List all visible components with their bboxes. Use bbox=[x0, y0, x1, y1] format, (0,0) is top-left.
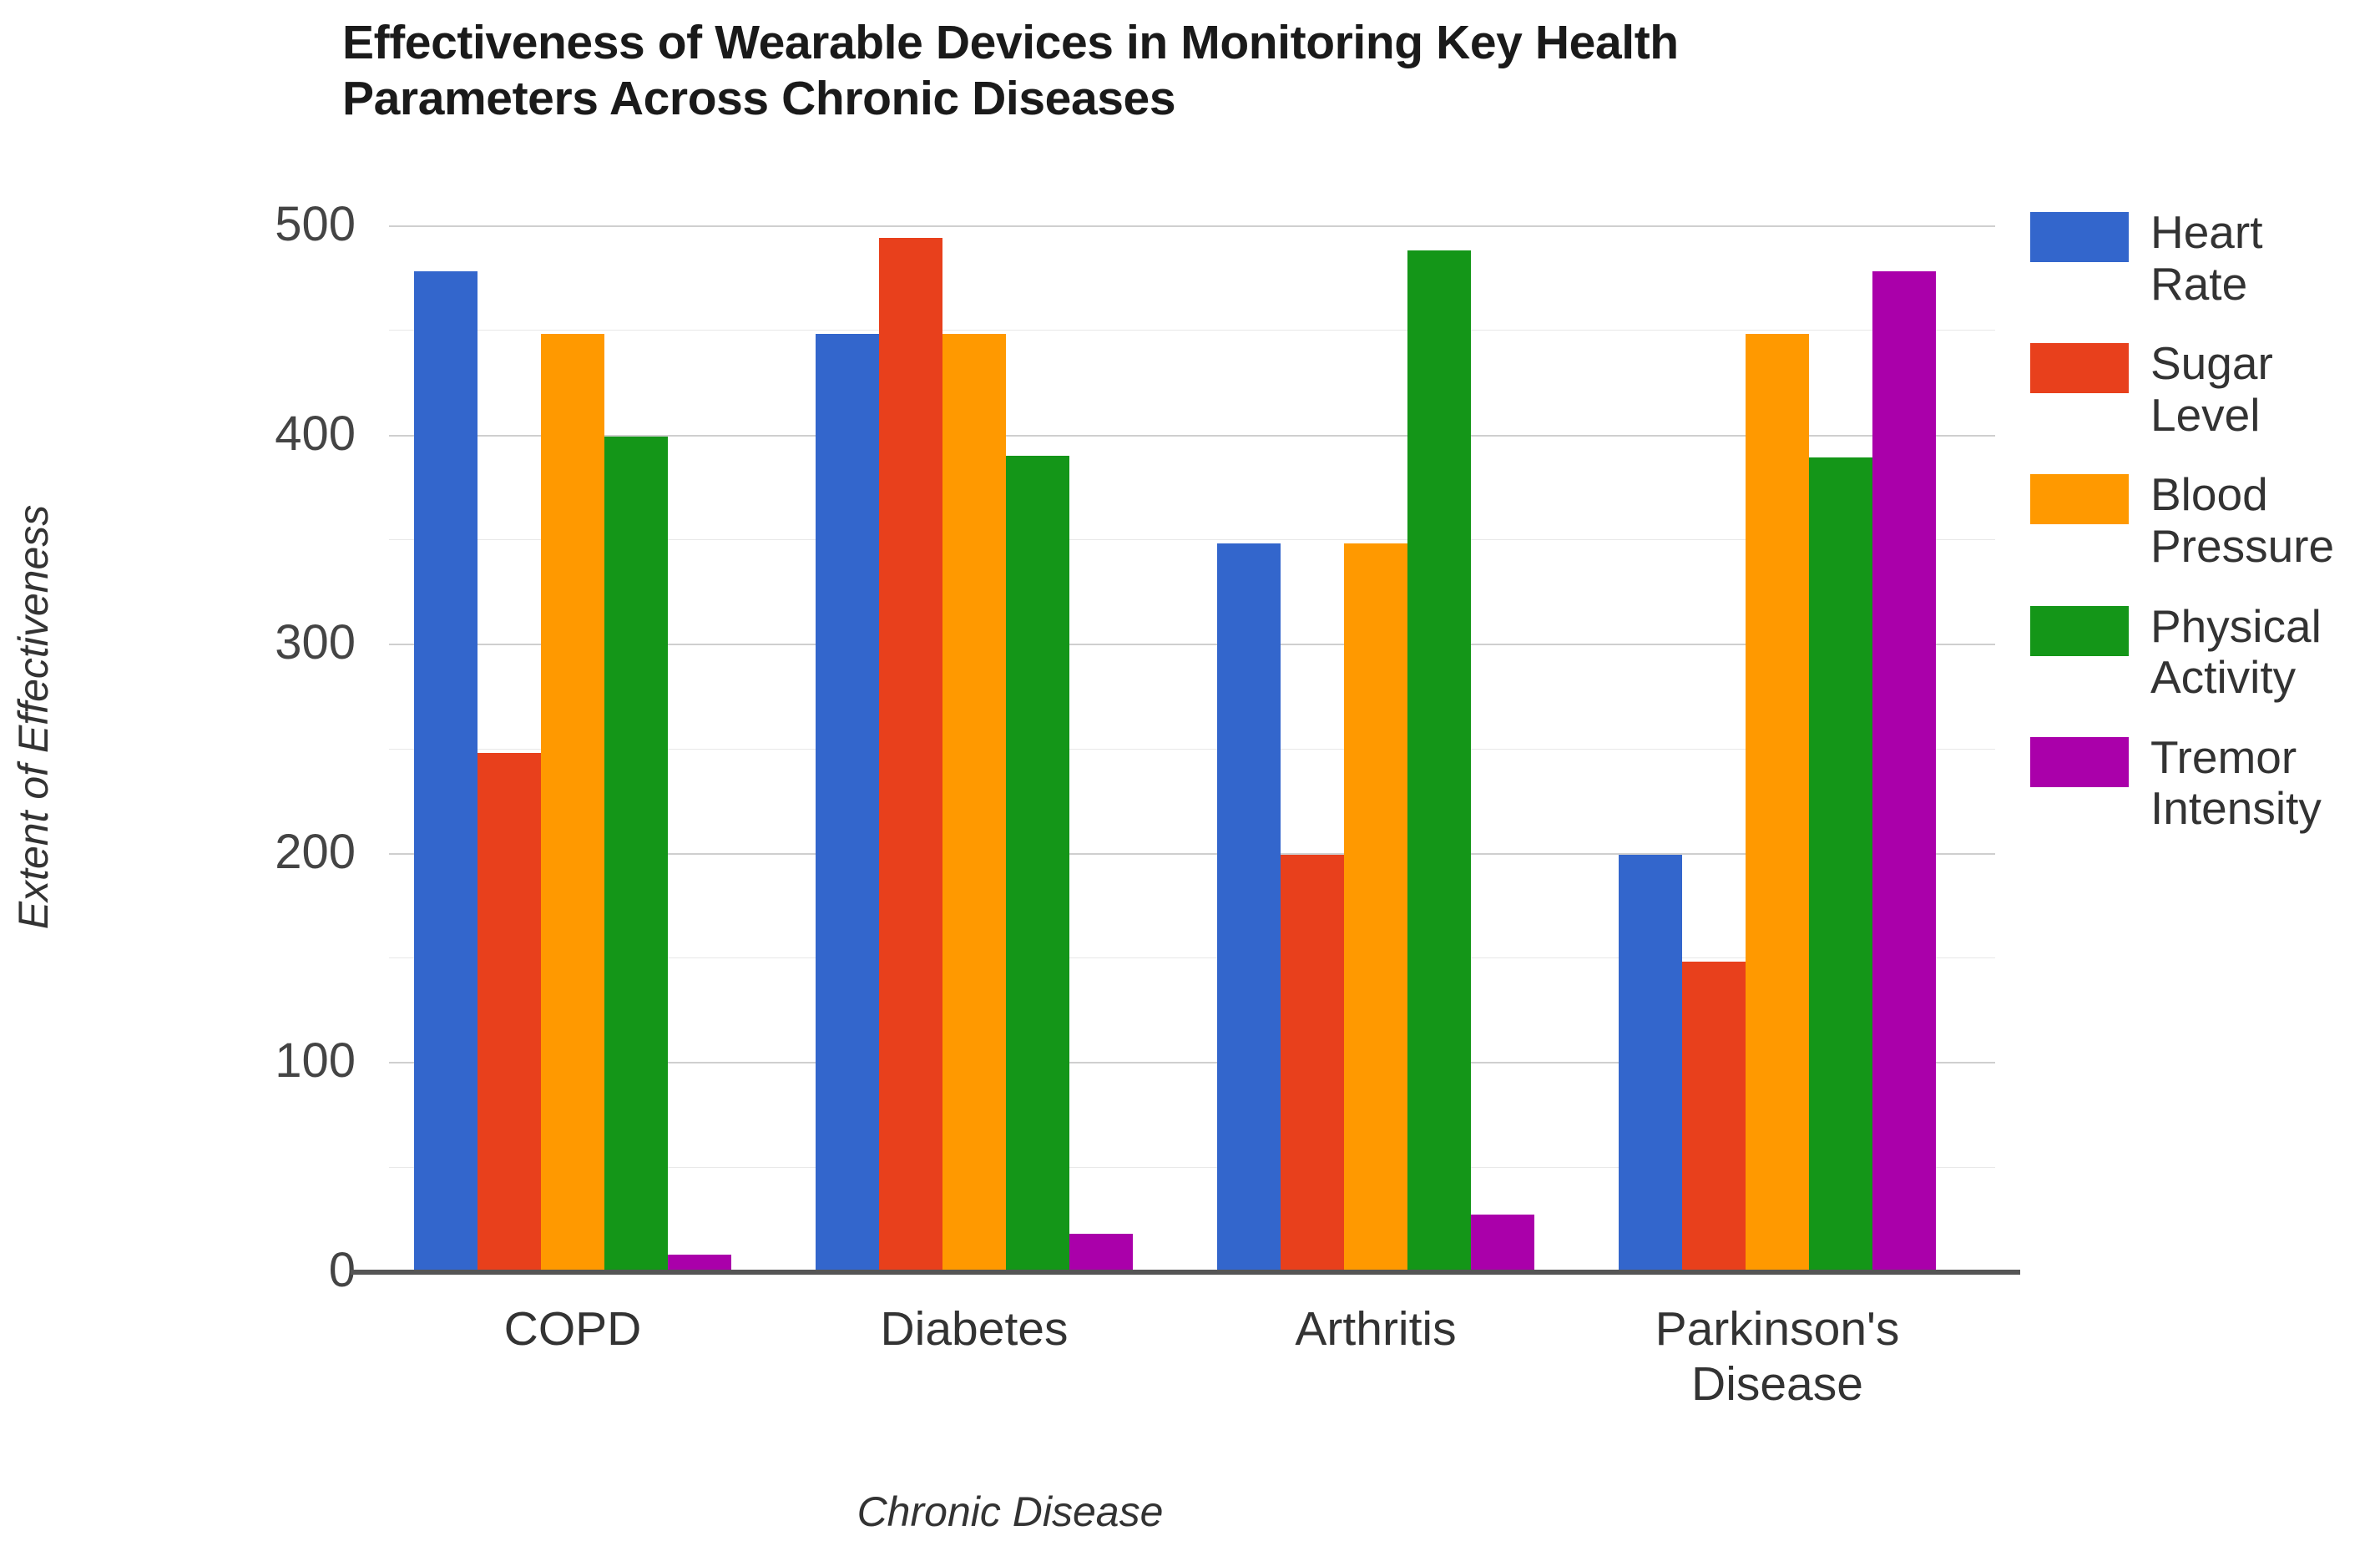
legend-label: Heart Rate bbox=[2150, 207, 2263, 310]
legend-label: Sugar Level bbox=[2150, 338, 2273, 441]
y-tick-label: 400 bbox=[139, 410, 356, 458]
bar-group bbox=[1217, 225, 1534, 1271]
legend-swatch-icon bbox=[2030, 343, 2129, 393]
bar[interactable] bbox=[478, 753, 541, 1271]
legend-item[interactable]: Physical Activity bbox=[2030, 601, 2377, 704]
x-axis-line bbox=[351, 1270, 2020, 1275]
bar[interactable] bbox=[1006, 456, 1069, 1271]
legend-swatch-icon bbox=[2030, 474, 2129, 524]
bar[interactable] bbox=[1682, 962, 1746, 1271]
bar[interactable] bbox=[816, 334, 879, 1271]
legend-item[interactable]: Tremor Intensity bbox=[2030, 732, 2377, 835]
legend-swatch-icon bbox=[2030, 606, 2129, 656]
y-tick-label: 0 bbox=[139, 1246, 356, 1295]
bar[interactable] bbox=[1471, 1215, 1534, 1271]
bar[interactable] bbox=[1344, 543, 1407, 1271]
legend-label: Blood Pressure bbox=[2150, 469, 2334, 572]
bar[interactable] bbox=[604, 437, 668, 1271]
bar-group bbox=[414, 225, 731, 1271]
legend-swatch-icon bbox=[2030, 212, 2129, 262]
chart-legend: Heart RateSugar LevelBlood PressurePhysi… bbox=[2030, 207, 2377, 863]
legend-swatch-icon bbox=[2030, 737, 2129, 787]
legend-item[interactable]: Blood Pressure bbox=[2030, 469, 2377, 572]
bar-group bbox=[816, 225, 1133, 1271]
bar[interactable] bbox=[879, 238, 942, 1271]
bar[interactable] bbox=[1619, 855, 1682, 1271]
x-axis-title: Chronic Disease bbox=[0, 1488, 2020, 1536]
bar[interactable] bbox=[1746, 334, 1809, 1271]
x-category-label: Parkinson's Disease bbox=[1527, 1302, 2028, 1412]
bar[interactable] bbox=[1872, 271, 1936, 1271]
chart-title: Effectiveness of Wearable Devices in Mon… bbox=[342, 15, 2012, 126]
y-tick-label: 500 bbox=[139, 200, 356, 249]
bar[interactable] bbox=[1217, 543, 1281, 1271]
bar-chart: Effectiveness of Wearable Devices in Mon… bbox=[0, 0, 2380, 1561]
bar[interactable] bbox=[1281, 855, 1344, 1271]
bar-group bbox=[1619, 225, 1936, 1271]
bar[interactable] bbox=[1809, 457, 1872, 1271]
legend-label: Physical Activity bbox=[2150, 601, 2322, 704]
y-tick-label: 100 bbox=[139, 1037, 356, 1085]
bar[interactable] bbox=[414, 271, 478, 1271]
bar[interactable] bbox=[1407, 250, 1471, 1271]
bar[interactable] bbox=[541, 334, 604, 1271]
legend-label: Tremor Intensity bbox=[2150, 732, 2322, 835]
bar[interactable] bbox=[942, 334, 1006, 1271]
legend-item[interactable]: Heart Rate bbox=[2030, 207, 2377, 310]
legend-item[interactable]: Sugar Level bbox=[2030, 338, 2377, 441]
plot-area bbox=[389, 225, 1995, 1271]
bar[interactable] bbox=[1069, 1234, 1133, 1271]
y-axis-title: Extent of Effectiveness bbox=[9, 300, 58, 1134]
y-tick-label: 300 bbox=[139, 619, 356, 667]
y-tick-label: 200 bbox=[139, 828, 356, 876]
bar[interactable] bbox=[668, 1255, 731, 1271]
